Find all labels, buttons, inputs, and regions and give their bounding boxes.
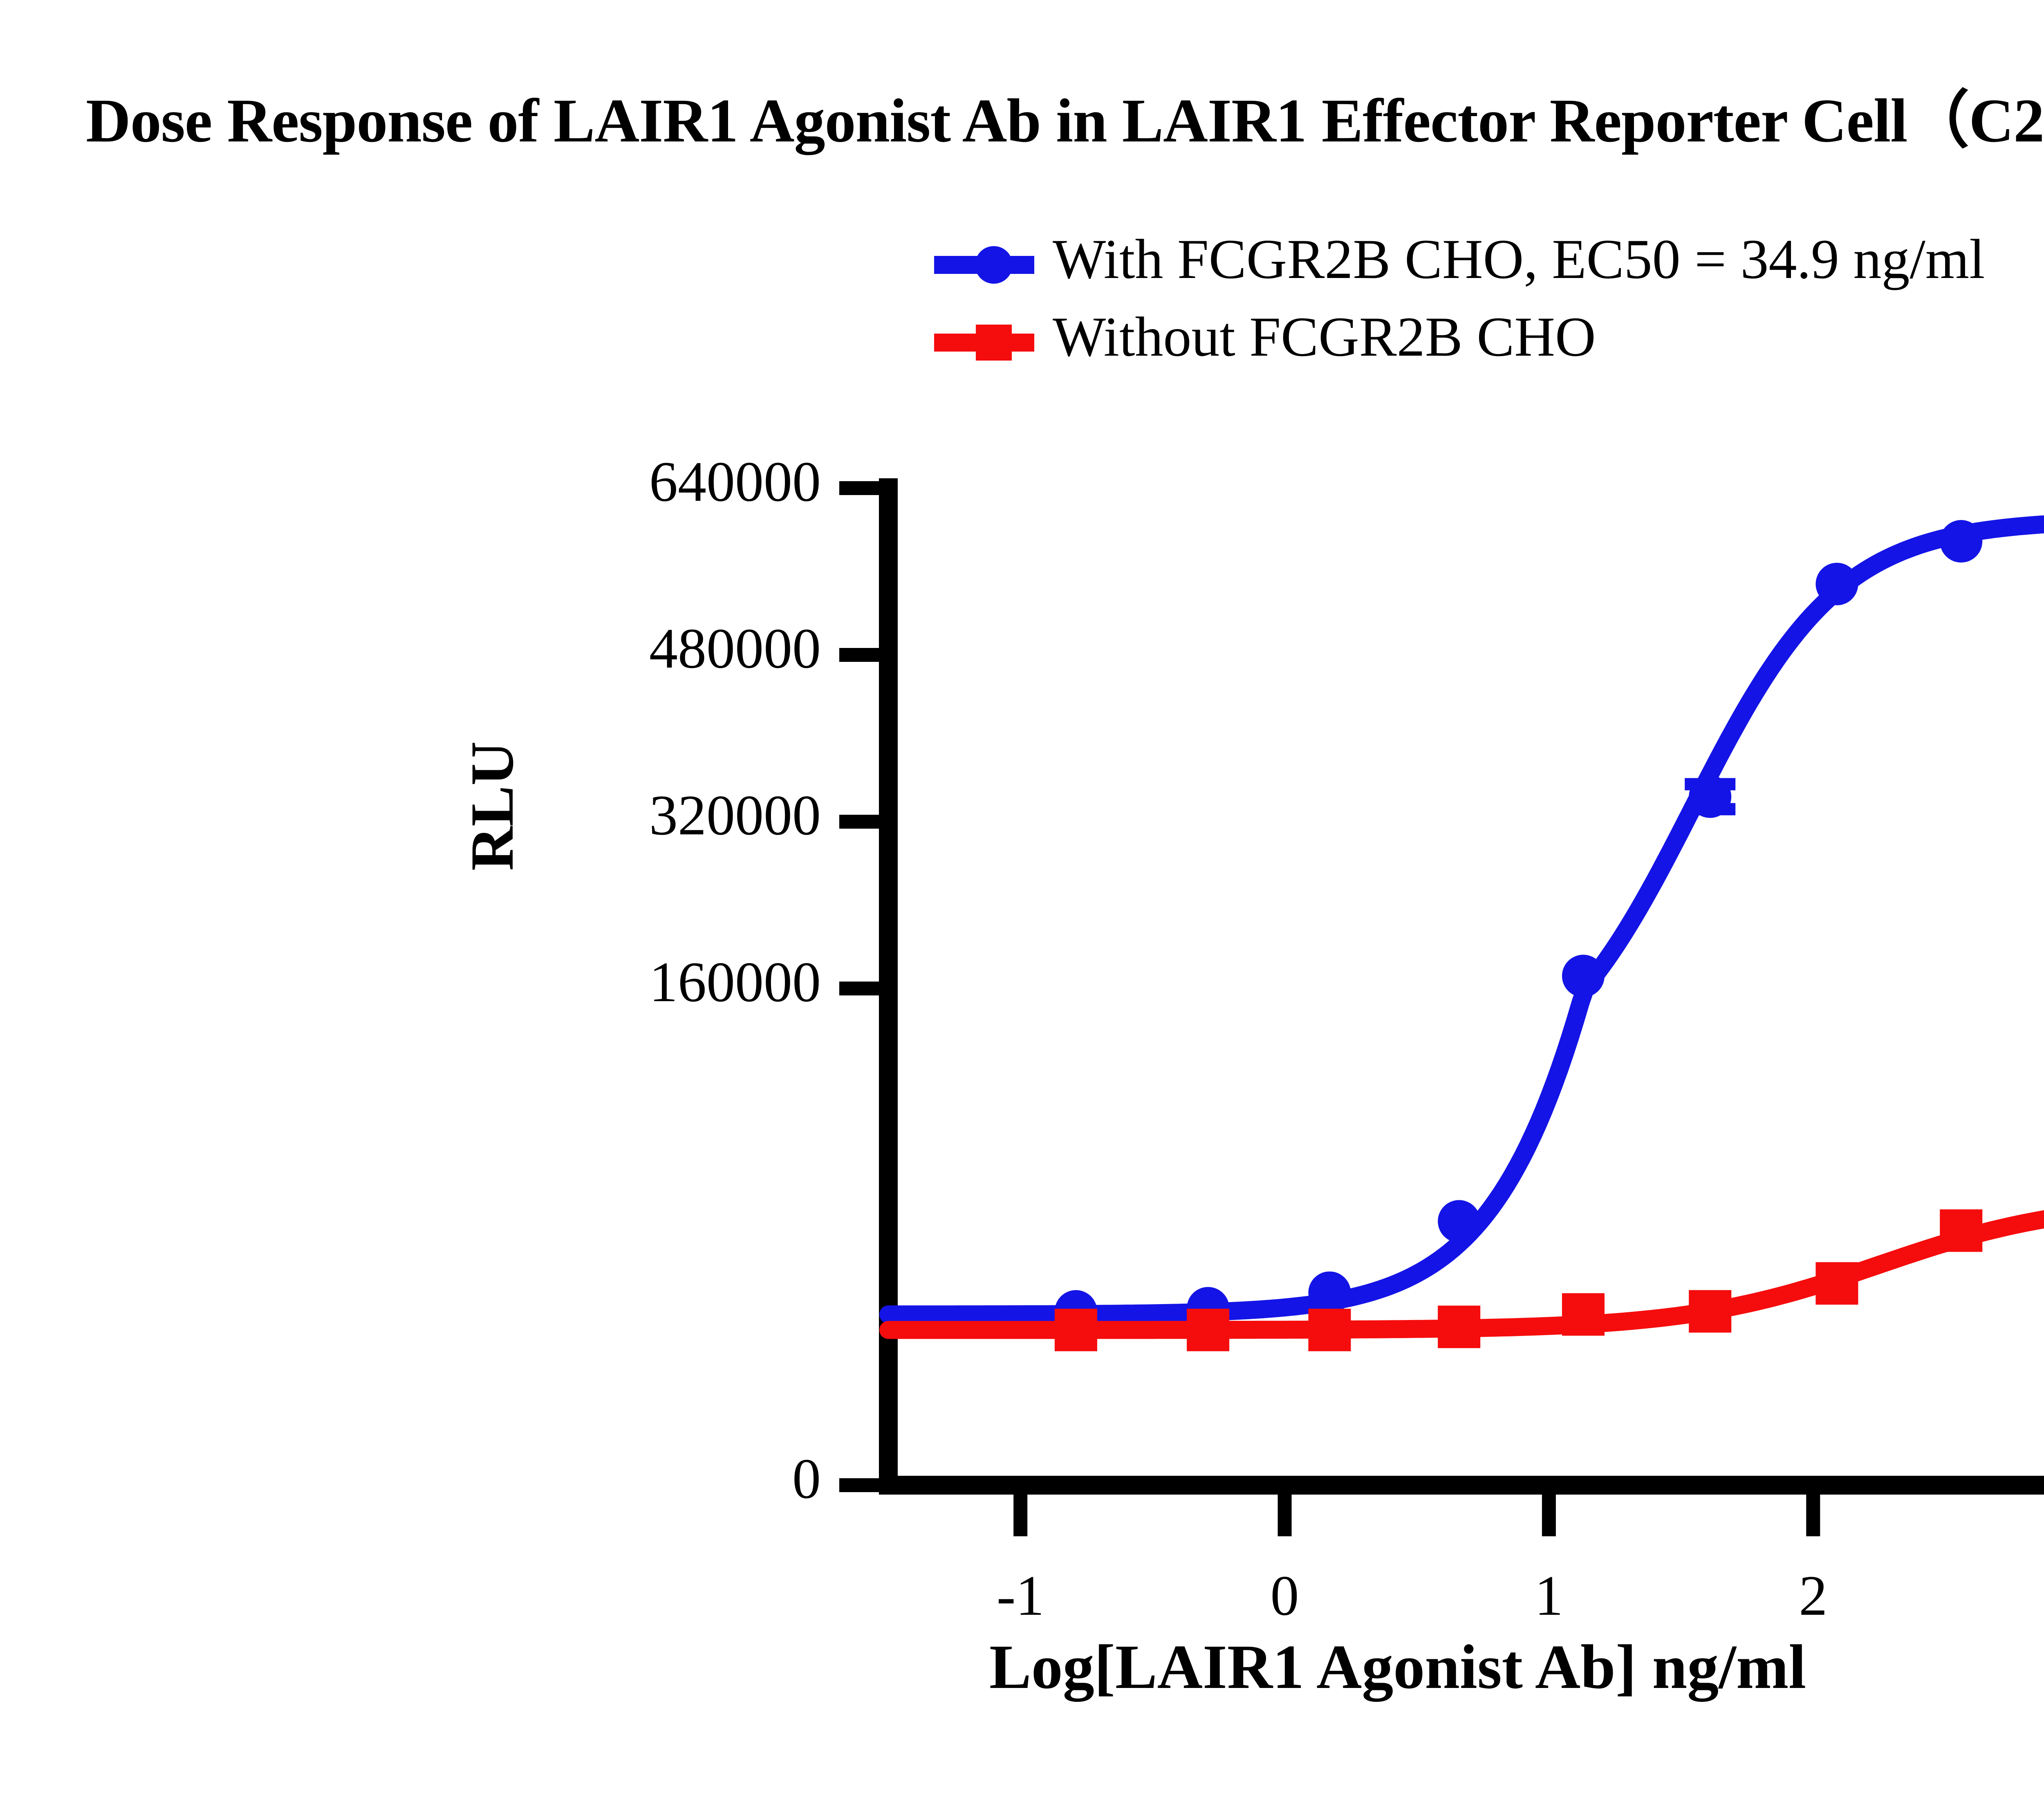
- x-tick-label: 1: [1492, 1563, 1606, 1629]
- y-tick-label: 160000: [649, 949, 821, 1015]
- axis-lines: [839, 478, 2044, 1536]
- y-tick-label: 480000: [649, 616, 821, 681]
- plot-area: [0, 0, 2044, 1811]
- data-point-circle: [1438, 1200, 1480, 1243]
- x-tick-label: 0: [1228, 1563, 1342, 1629]
- data-point-circle: [1940, 520, 1982, 563]
- data-point-square: [1308, 1309, 1351, 1351]
- x-tick-label: 3: [2020, 1563, 2044, 1629]
- series-with-fcgr2b: [888, 480, 2044, 1333]
- y-tick-label: 640000: [649, 449, 821, 515]
- chart-canvas: Dose Response of LAIR1 Agonist Ab in LAI…: [0, 0, 2044, 1811]
- fit-curve: [888, 520, 2044, 1315]
- data-point-square: [1562, 1293, 1605, 1336]
- data-point-circle: [1689, 776, 1731, 818]
- y-tick-label: 320000: [649, 782, 821, 848]
- data-point-square: [1055, 1309, 1097, 1351]
- data-point-circle: [1308, 1271, 1351, 1314]
- data-point-square: [1438, 1306, 1480, 1348]
- data-point-square: [1689, 1290, 1731, 1333]
- data-series-group: [888, 480, 2044, 1352]
- data-point-circle: [1562, 955, 1605, 997]
- data-point-circle: [1815, 563, 1858, 605]
- y-tick-label: 0: [792, 1446, 821, 1512]
- data-point-square: [1815, 1262, 1858, 1304]
- data-point-square: [1187, 1309, 1229, 1351]
- x-tick-label: -1: [963, 1563, 1078, 1629]
- data-point-square: [1940, 1209, 1982, 1252]
- x-tick-label: 2: [1756, 1563, 1870, 1629]
